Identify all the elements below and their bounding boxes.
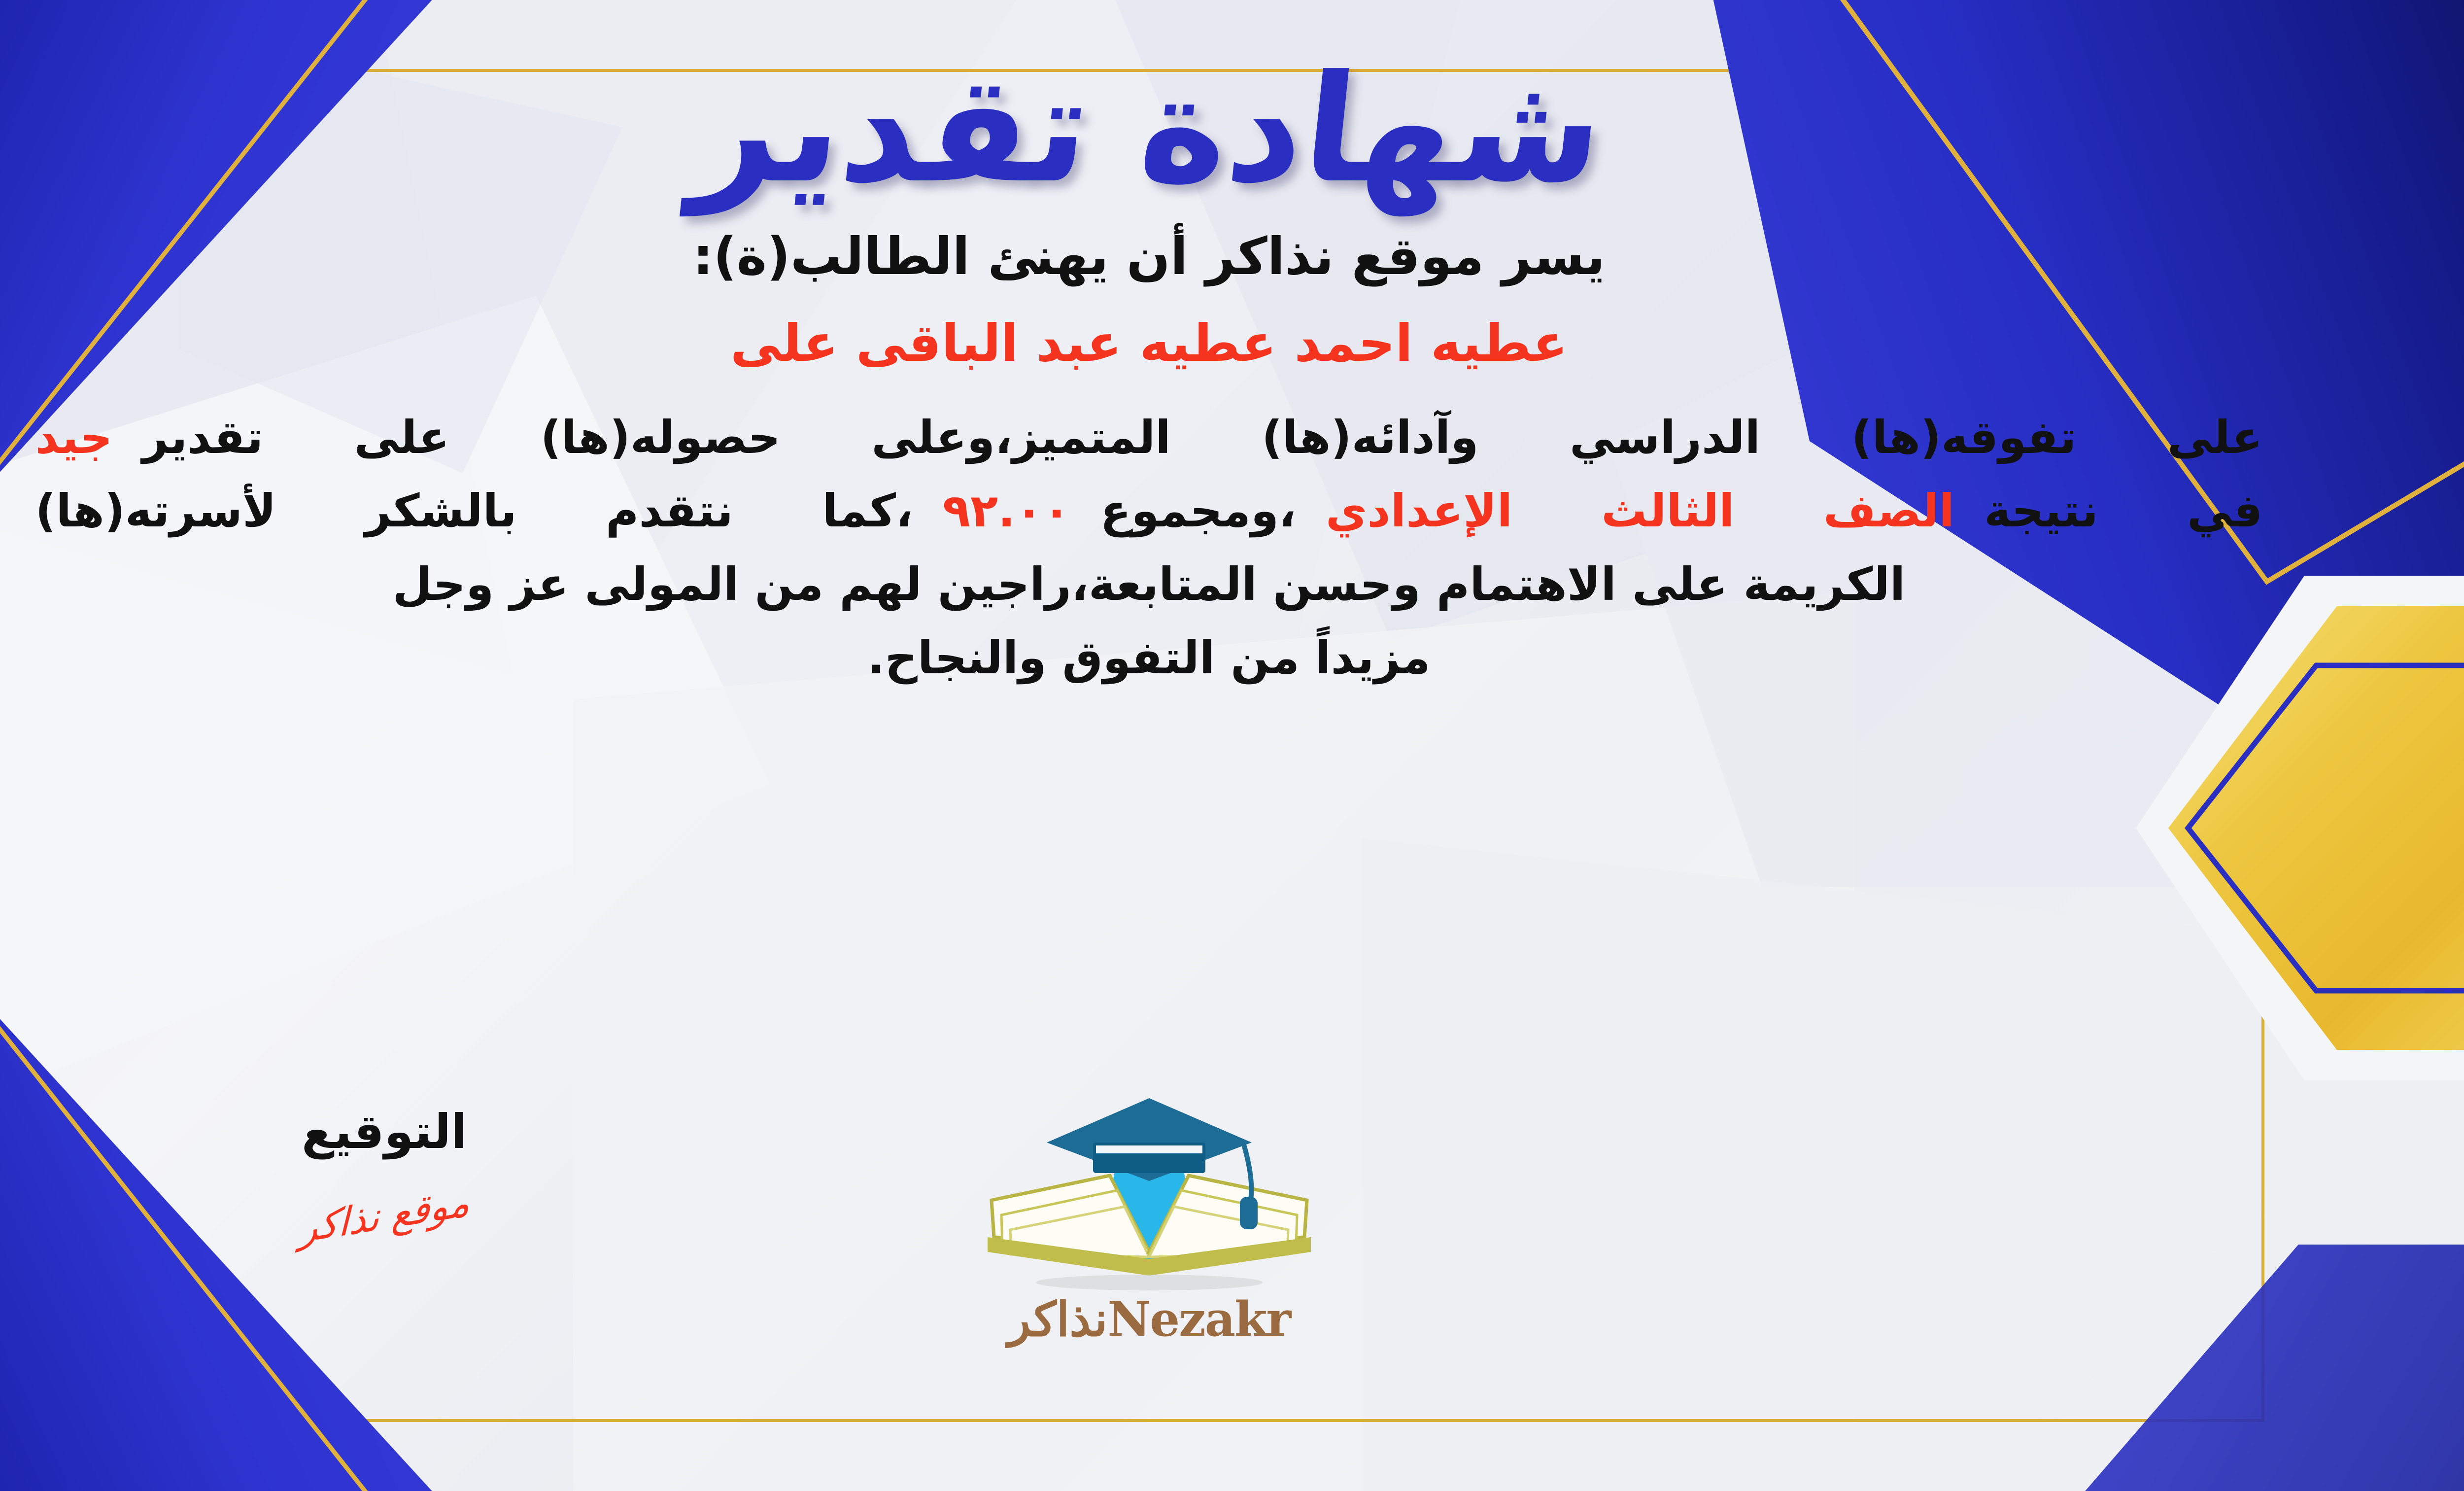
certificate-footer: التوقيع موقع نذاكر — [0, 1104, 2464, 1400]
logo-mark — [947, 1089, 1351, 1296]
site-logo: Nezakrنذاكر — [947, 1089, 1351, 1385]
greeting-line: يسر موقع نذاكر أن يهنئ الطالب(ة): — [0, 224, 2327, 288]
signature-block: التوقيع موقع نذاكر — [197, 1104, 572, 1238]
achievement-paragraph: على تفوقه(ها) الدراسي وآدائه(ها) المتميز… — [0, 401, 2327, 694]
class-name: الصف الثالث الإعدادي — [1326, 485, 1954, 537]
paragraph-line-6: مزيداً من التفوق والنجاح. — [35, 621, 2263, 694]
logo-wordmark: Nezakrنذاكر — [947, 1291, 1351, 1347]
signature-label: التوقيع — [197, 1104, 572, 1159]
tassel-knot — [1240, 1197, 1258, 1229]
logo-shadow — [1036, 1275, 1263, 1290]
signature-handwriting: موقع نذاكر — [299, 1180, 470, 1252]
total-label: ،ومجموع — [1100, 485, 1296, 537]
achievement-text-part-1: على تفوقه(ها) الدراسي وآدائه(ها) المتميز… — [142, 411, 2263, 464]
certificate-title: شهادة تقدير — [686, 44, 1612, 214]
paragraph-line-5: الكريمة على الاهتمام وحسن المتابعة،راجين… — [35, 548, 2263, 621]
student-name: عطيه احمد عطيه عبد الباقى على — [0, 311, 2327, 375]
certificate-body: يسر موقع نذاكر أن يهنئ الطالب(ة): عطيه ا… — [0, 224, 2327, 694]
total-score: ٩٢.٠٠ — [943, 485, 1071, 537]
thanks-text: ،كما نتقدم بالشكر لأسرته(ها) — [35, 485, 913, 537]
mortarboard-band-highlight — [1096, 1145, 1202, 1153]
certificate-page: شهادة تقدير يسر موقع نذاكر أن يهنئ الطال… — [0, 0, 2464, 1491]
paragraph-line-3: على تفوقه(ها) الدراسي وآدائه(ها) المتميز… — [35, 401, 2263, 474]
result-label: في نتيجة — [1984, 485, 2262, 537]
paragraph-line-4: في نتيجةالصف الثالث الإعدادي،ومجموع٩٢.٠٠… — [35, 474, 2263, 548]
logo-name-en: Nezakr — [1107, 1291, 1290, 1347]
logo-name-ar: نذاكر — [1008, 1291, 1107, 1347]
grade-word: جيد — [35, 411, 113, 464]
graduation-book-icon — [947, 1089, 1351, 1296]
